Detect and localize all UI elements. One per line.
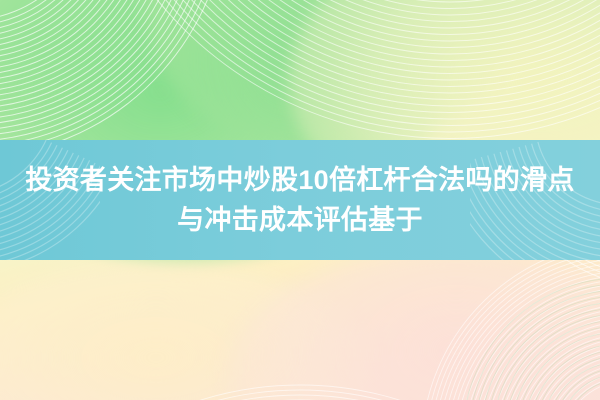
page-title: 投资者关注市场中炒股10倍杠杆合法吗的滑点与冲击成本评估基于 [20,160,580,240]
banner-image: 投资者关注市场中炒股10倍杠杆合法吗的滑点与冲击成本评估基于 [0,0,600,400]
title-band: 投资者关注市场中炒股10倍杠杆合法吗的滑点与冲击成本评估基于 [0,140,600,260]
